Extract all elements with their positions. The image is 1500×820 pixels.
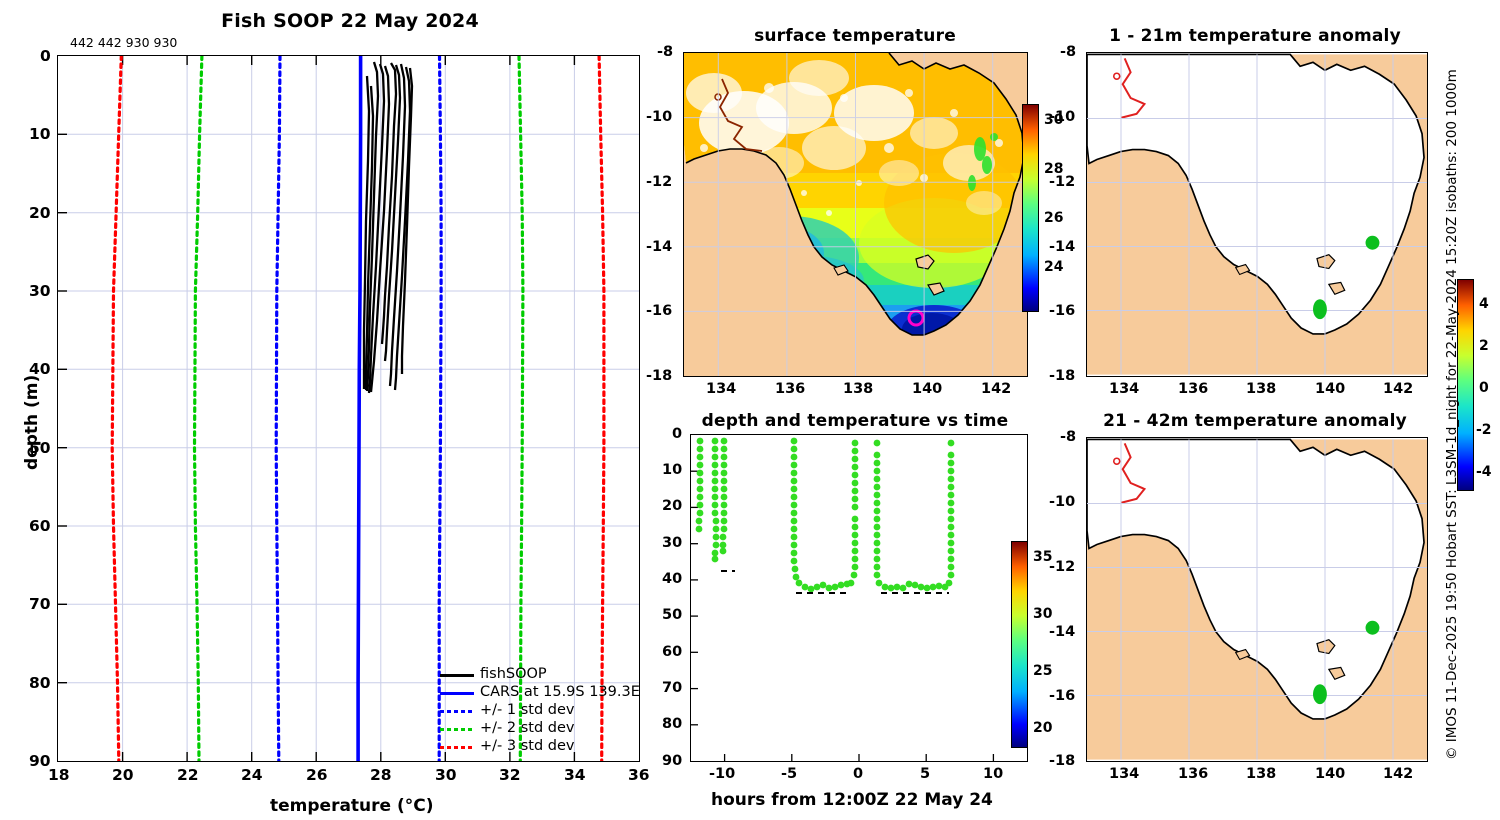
sst-xtick-134: 134: [706, 381, 736, 397]
legend-swatch-sd2: [440, 728, 474, 731]
sst-xtick-140: 140: [912, 381, 942, 397]
profile-plot-area: [57, 55, 640, 762]
profile-chart: [58, 56, 639, 761]
time-ytick-70: 70: [662, 680, 682, 696]
legend-item-sd2: +/- 2 std dev: [440, 720, 630, 738]
sst-ytick-14: -14: [646, 239, 672, 255]
sst-colorbar: [1022, 104, 1039, 312]
profile-ytick-10: 10: [29, 125, 51, 143]
anomaly-bottom-map-area: [1086, 437, 1428, 762]
profile-xtick-36: 36: [628, 766, 650, 784]
anombot-ytick-16: -16: [1049, 688, 1075, 704]
profile-xaxis-label: temperature (°C): [270, 796, 434, 816]
sst-cbar-tick-26: 26: [1044, 210, 1063, 226]
sst-ytick-8: -8: [657, 44, 673, 60]
sst-ytick-16: -16: [646, 303, 672, 319]
profile-ytick-60: 60: [29, 517, 51, 535]
anombot-ytick-10: -10: [1049, 494, 1075, 510]
anombot-xtick-136: 136: [1178, 766, 1208, 782]
time-ytick-10: 10: [662, 462, 682, 478]
sst-xtick-138: 138: [843, 381, 873, 397]
time-cbar-tick-20: 20: [1033, 720, 1052, 736]
anombot-xtick-134: 134: [1109, 766, 1139, 782]
profile-xtick-22: 22: [177, 766, 199, 784]
profile-yaxis-label: depth (m): [22, 375, 42, 470]
anomtop-xtick-138: 138: [1246, 381, 1276, 397]
legend-label-fishsoop: fishSOOP: [480, 666, 547, 682]
anombot-xtick-140: 140: [1315, 766, 1345, 782]
profile-xtick-18: 18: [48, 766, 70, 784]
time-xtick-0: 0: [853, 766, 863, 782]
legend-label-sd2: +/- 2 std dev: [480, 720, 574, 736]
sst-ytick-12: -12: [646, 174, 672, 190]
anomtop-ytick-8: -8: [1060, 44, 1076, 60]
sst-ytick-10: -10: [646, 109, 672, 125]
anom-cbar-tick-m4: -4: [1476, 464, 1492, 480]
time-ytick-60: 60: [662, 644, 682, 660]
profile-xtick-30: 30: [435, 766, 457, 784]
time-panel-title: depth and temperature vs time: [680, 411, 1030, 431]
profile-xtick-24: 24: [241, 766, 263, 784]
sst-xtick-136: 136: [775, 381, 805, 397]
profile-ytick-30: 30: [29, 282, 51, 300]
time-depth-chart: [691, 435, 1027, 761]
anomaly-point-north: [1366, 236, 1380, 250]
credit-text: © IMOS 11-Dec-2025 19:50 Hobart SST: L3S…: [1444, 69, 1460, 760]
legend-swatch-cars: [440, 692, 474, 695]
legend-item-cars: CARS at 15.9S 139.3E: [440, 684, 630, 702]
anombot-ytick-12: -12: [1049, 559, 1075, 575]
legend-swatch-sd1: [440, 710, 474, 713]
anomaly-point-south: [1313, 299, 1327, 319]
profile-ytick-70: 70: [29, 595, 51, 613]
anomtop-ytick-12: -12: [1049, 174, 1075, 190]
sst-ytick-18: -18: [646, 368, 672, 384]
profile-xtick-34: 34: [564, 766, 586, 784]
anomtop-xtick-142: 142: [1383, 381, 1413, 397]
profile-legend: fishSOOP CARS at 15.9S 139.3E +/- 1 std …: [440, 666, 630, 756]
sst-map: [684, 53, 1027, 376]
anomtop-xtick-140: 140: [1315, 381, 1345, 397]
deployment-points: [696, 438, 955, 593]
profile-ytick-90: 90: [29, 752, 51, 770]
anomtop-ytick-18: -18: [1049, 368, 1075, 384]
anomaly-bottom-map: [1087, 438, 1427, 761]
anombot-ytick-14: -14: [1049, 624, 1075, 640]
time-xtick-m5: -5: [781, 766, 797, 782]
time-ytick-50: 50: [662, 607, 682, 623]
legend-swatch-fishsoop: [440, 674, 474, 677]
legend-label-sd1: +/- 1 std dev: [480, 702, 574, 718]
profile-ytick-20: 20: [29, 204, 51, 222]
anombot-xtick-138: 138: [1246, 766, 1276, 782]
anomaly-top-map: [1087, 53, 1427, 376]
anomtop-ytick-14: -14: [1049, 239, 1075, 255]
fishsoop-profiles: [364, 62, 412, 393]
time-plot-area: [690, 434, 1028, 762]
legend-item-sd3: +/- 3 std dev: [440, 738, 630, 756]
profile-xaxis-label-text: temperature (°C): [270, 796, 434, 816]
time-ytick-80: 80: [662, 716, 682, 732]
profile-xtick-28: 28: [370, 766, 392, 784]
figure-title: Fish SOOP 22 May 2024: [60, 10, 640, 32]
cars-mean-line: [358, 56, 361, 761]
anomaly-top-title: 1 - 21m temperature anomaly: [1085, 26, 1425, 46]
profile-xtick-32: 32: [499, 766, 521, 784]
anombot-xtick-142: 142: [1383, 766, 1413, 782]
sst-xtick-142: 142: [981, 381, 1011, 397]
anomaly-top-map-area: [1086, 52, 1428, 377]
legend-label-sd3: +/- 3 std dev: [480, 738, 574, 754]
figure-subtitle: 442 442 930 930: [70, 35, 177, 50]
time-ytick-20: 20: [662, 498, 682, 514]
profile-yaxis-label-text: depth (m): [22, 375, 42, 470]
anomtop-xtick-134: 134: [1109, 381, 1139, 397]
anombot-ytick-18: -18: [1049, 753, 1075, 769]
time-ytick-90: 90: [662, 753, 682, 769]
profile-ytick-80: 80: [29, 674, 51, 692]
anom-cbar-tick-m2: -2: [1476, 422, 1492, 438]
anomaly-point-north: [1366, 621, 1380, 635]
time-cbar-tick-30: 30: [1033, 606, 1052, 622]
anom-cbar-tick-2: 2: [1479, 338, 1489, 354]
anom-cbar-tick-4: 4: [1479, 296, 1489, 312]
time-ytick-0: 0: [672, 426, 682, 442]
time-colorbar: [1011, 541, 1028, 748]
sst-cbar-tick-24: 24: [1044, 259, 1063, 275]
sst-map-area: [683, 52, 1028, 377]
time-xtick-5: 5: [920, 766, 930, 782]
anomaly-point-south: [1313, 684, 1327, 704]
profile-xtick-26: 26: [306, 766, 328, 784]
legend-swatch-sd3: [440, 746, 474, 749]
time-ytick-30: 30: [662, 535, 682, 551]
anomtop-ytick-16: -16: [1049, 303, 1075, 319]
time-ytick-40: 40: [662, 571, 682, 587]
time-xtick-10: 10: [983, 766, 1003, 782]
anom-cbar-tick-0: 0: [1479, 380, 1489, 396]
profile-ytick-0: 0: [40, 47, 51, 65]
time-xtick-m10: -10: [709, 766, 735, 782]
anomaly-bottom-title: 21 - 42m temperature anomaly: [1085, 411, 1425, 431]
profile-xtick-20: 20: [112, 766, 134, 784]
legend-item-sd1: +/- 1 std dev: [440, 702, 630, 720]
anombot-ytick-8: -8: [1060, 429, 1076, 445]
sst-panel-title: surface temperature: [690, 26, 1020, 46]
time-xaxis-label-text: hours from 12:00Z 22 May 24: [711, 790, 993, 810]
anomtop-xtick-136: 136: [1178, 381, 1208, 397]
anomtop-ytick-10: -10: [1049, 109, 1075, 125]
legend-label-cars: CARS at 15.9S 139.3E: [480, 684, 640, 700]
time-cbar-tick-25: 25: [1033, 663, 1052, 679]
legend-item-fishsoop: fishSOOP: [440, 666, 630, 684]
time-xaxis-label: hours from 12:00Z 22 May 24: [711, 790, 993, 810]
